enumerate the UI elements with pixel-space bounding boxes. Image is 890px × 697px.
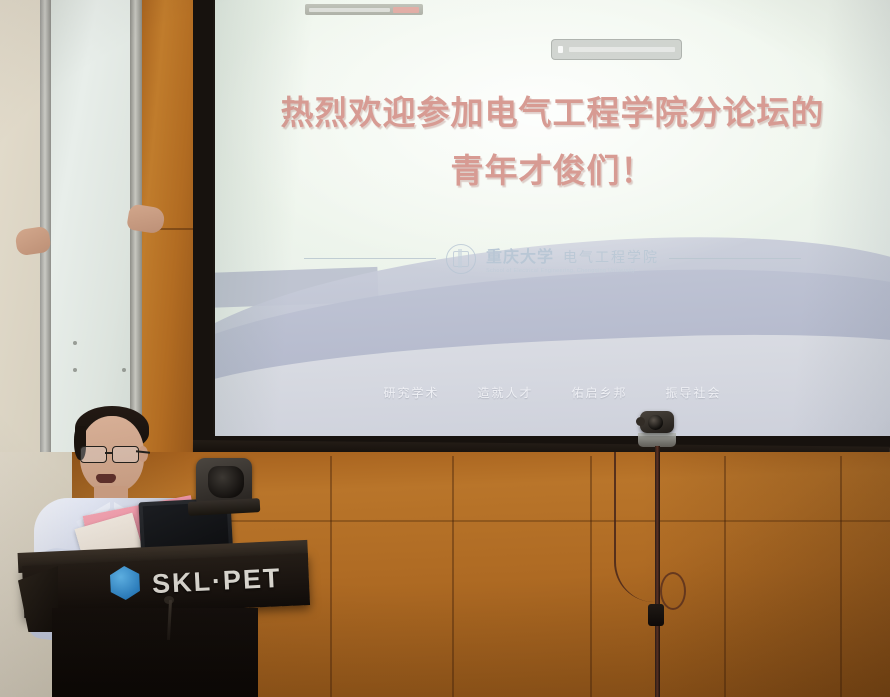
camera-tripod-pole [655,446,660,697]
university-crest-icon [446,244,476,274]
cable-loop [660,572,686,610]
ptz-camera-lens [208,466,244,498]
control-bar-label [309,8,390,12]
camera-lens [648,415,663,430]
media-control-bar[interactable] [305,4,423,15]
panel-screw [73,368,77,372]
motto-item: 佑启乡邦 [572,384,628,401]
logo-text-block: 重庆大学 电气工程学院 School of Electrical Enginee… [486,243,659,274]
slide-title-line-2: 青年才俊们！ [215,142,890,200]
camera-pan-knob [636,417,645,426]
logo-rule-right [669,258,801,259]
speaker-mouth [96,474,116,483]
eyeglasses-icon [80,446,146,461]
pole-clamp [648,604,664,626]
glasses-lens-right [112,446,139,463]
panel-screw [73,341,77,345]
motto-item: 造就人才 [477,384,533,401]
slide-logo-row: 重庆大学 电气工程学院 School of Electrical Enginee… [215,243,890,274]
photo-scene: 热烈欢迎参加电气工程学院分论坛的 青年才俊们！ 重庆大学 电气工程学院 Scho… [0,0,890,697]
glasses-bridge [105,452,112,454]
projected-slide: 热烈欢迎参加电气工程学院分论坛的 青年才俊们！ 重庆大学 电气工程学院 Scho… [215,0,890,436]
logo-university-name: 重庆大学 [486,243,554,267]
motto-item: 研究学术 [383,384,439,401]
screen-share-notification[interactable] [551,39,682,60]
logo-english-name: School of Electrical Engineering, Chongq… [486,268,635,274]
slide-motto: 研究学术 造就人才 佑启乡邦 振导社会 [215,384,890,401]
motto-item: 振导社会 [666,384,722,401]
notification-label [569,47,675,52]
control-bar-accent [393,7,419,13]
camera-mount-plate [638,433,676,447]
logo-school-name: 电气工程学院 [563,247,659,267]
ptz-camera-icon [196,458,252,504]
logo-rule-left [304,258,436,259]
logo-chinese-line: 重庆大学 电气工程学院 [486,243,659,267]
glasses-lens-left [80,446,107,463]
slide-title-line-1: 热烈欢迎参加电气工程学院分论坛的 [281,93,825,132]
slide-title: 热烈欢迎参加电气工程学院分论坛的 青年才俊们！ [215,84,890,200]
notification-icon [558,46,563,53]
podium-label: SKL·PET [151,563,282,600]
podium-body [52,608,258,697]
panel-screw [122,368,126,372]
